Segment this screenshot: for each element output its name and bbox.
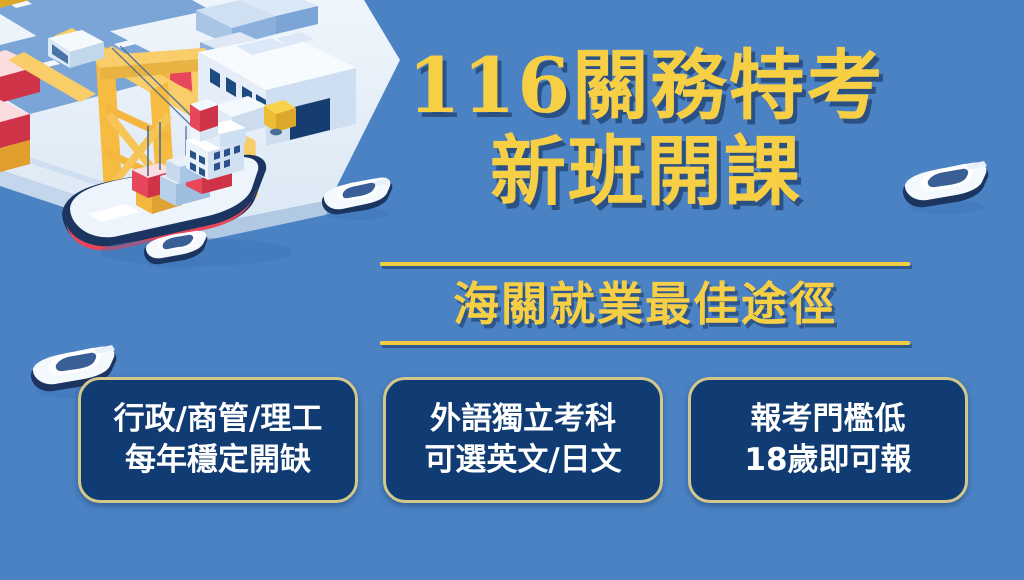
feature-badge-language: 外語獨立考科 可選英文/日文 bbox=[383, 377, 663, 503]
ship-bridge bbox=[186, 120, 246, 180]
crane-cabin bbox=[48, 30, 104, 68]
badge-line-1: 外語獨立考科 bbox=[430, 399, 616, 440]
warehouse-building bbox=[198, 32, 356, 146]
harbour-illustration bbox=[0, 0, 420, 300]
subtitle-text: 海關就業最佳途徑 bbox=[380, 275, 910, 333]
shipping-containers-top bbox=[152, 0, 318, 110]
shipping-containers-left bbox=[0, 50, 40, 176]
subtitle-rule-top bbox=[380, 262, 910, 266]
small-boat bbox=[138, 222, 214, 272]
headline-line-2: 新班開課 bbox=[378, 130, 914, 214]
feature-badge-departments: 行政/商管/理工 每年穩定開缺 bbox=[78, 377, 358, 503]
headline-line-1: 116關務特考 bbox=[378, 44, 914, 128]
headline-block: 116關務特考 新班開課 bbox=[378, 44, 914, 214]
dock-road bbox=[0, 0, 210, 114]
feature-badges: 行政/商管/理工 每年穩定開缺 外語獨立考科 可選英文/日文 報考門檻低 18歲… bbox=[78, 377, 968, 503]
badge-line-2: 18歲即可報 bbox=[744, 440, 911, 481]
subtitle-block: 海關就業最佳途徑 bbox=[380, 262, 910, 345]
badge-line-1: 報考門檻低 bbox=[751, 399, 906, 440]
cargo-ship bbox=[62, 99, 266, 251]
ship-funnel bbox=[190, 99, 218, 142]
promo-banner: 116關務特考 新班開課 海關就業最佳途徑 行政/商管/理工 每年穩定開缺 外語… bbox=[0, 0, 1024, 580]
badge-line-1: 行政/商管/理工 bbox=[114, 399, 323, 440]
dock-platform bbox=[0, 0, 400, 246]
badge-line-2: 每年穩定開缺 bbox=[125, 440, 311, 481]
badge-line-2: 可選英文/日文 bbox=[424, 440, 621, 481]
feature-badge-eligibility: 報考門檻低 18歲即可報 bbox=[688, 377, 968, 503]
subtitle-rule-bottom bbox=[380, 341, 910, 345]
delivery-truck bbox=[212, 96, 296, 140]
gantry-crane bbox=[8, 28, 258, 231]
truck-top-left bbox=[0, 0, 30, 8]
